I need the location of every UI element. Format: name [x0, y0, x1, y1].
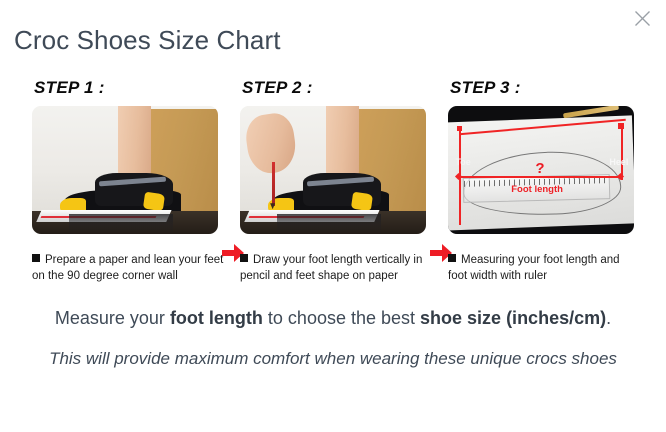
- step-1-photo-foot-against-wall: [32, 106, 218, 234]
- step3-heel-label: Heel: [609, 157, 628, 167]
- comfort-note: This will provide maximum comfort when w…: [0, 344, 666, 374]
- step-2: STEP 2 :: [240, 78, 430, 234]
- step3-toe-label: Toe: [455, 157, 470, 167]
- lead-text-2: to choose the best: [263, 308, 420, 328]
- bullet-square-icon: [32, 254, 40, 262]
- step-2-caption-text: Draw your foot length vertically in penc…: [240, 254, 422, 282]
- step3-question-mark: ?: [535, 160, 544, 177]
- step3-foot-length-label: Foot length: [511, 184, 563, 195]
- step-2-photo-drawing-outline: [240, 106, 426, 234]
- close-button[interactable]: [628, 4, 656, 32]
- lead-bold-foot-length: foot length: [170, 308, 263, 328]
- step-1-caption: Prepare a paper and lean your feet on th…: [32, 252, 224, 284]
- step-3-caption-text: Measuring your foot length and foot widt…: [448, 254, 620, 282]
- lead-bold-shoe-size: shoe size (inches/cm): [420, 308, 606, 328]
- step-3-photo-measuring-with-ruler: Toe Heel ? Foot length: [448, 106, 634, 234]
- step-1-label: STEP 1 :: [34, 78, 222, 98]
- bullet-square-icon: [448, 254, 456, 262]
- step-3-label: STEP 3 :: [450, 78, 638, 98]
- step-1-caption-text: Prepare a paper and lean your feet on th…: [32, 254, 223, 282]
- step-2-label: STEP 2 :: [242, 78, 430, 98]
- bullet-square-icon: [240, 254, 248, 262]
- step-3-caption: Measuring your foot length and foot widt…: [448, 252, 640, 284]
- step-2-caption: Draw your foot length vertically in penc…: [240, 252, 432, 284]
- close-icon: [634, 10, 651, 27]
- size-chart-modal: Croc Shoes Size Chart STEP 1 :: [0, 0, 666, 432]
- lead-text-3: .: [606, 308, 611, 328]
- lead-text-1: Measure your: [55, 308, 170, 328]
- step-1: STEP 1 :: [32, 78, 222, 234]
- page-title: Croc Shoes Size Chart: [14, 25, 281, 56]
- measure-instruction: Measure your foot length to choose the b…: [0, 305, 666, 331]
- step-3: STEP 3 : Toe Heel ? Foot l: [448, 78, 638, 234]
